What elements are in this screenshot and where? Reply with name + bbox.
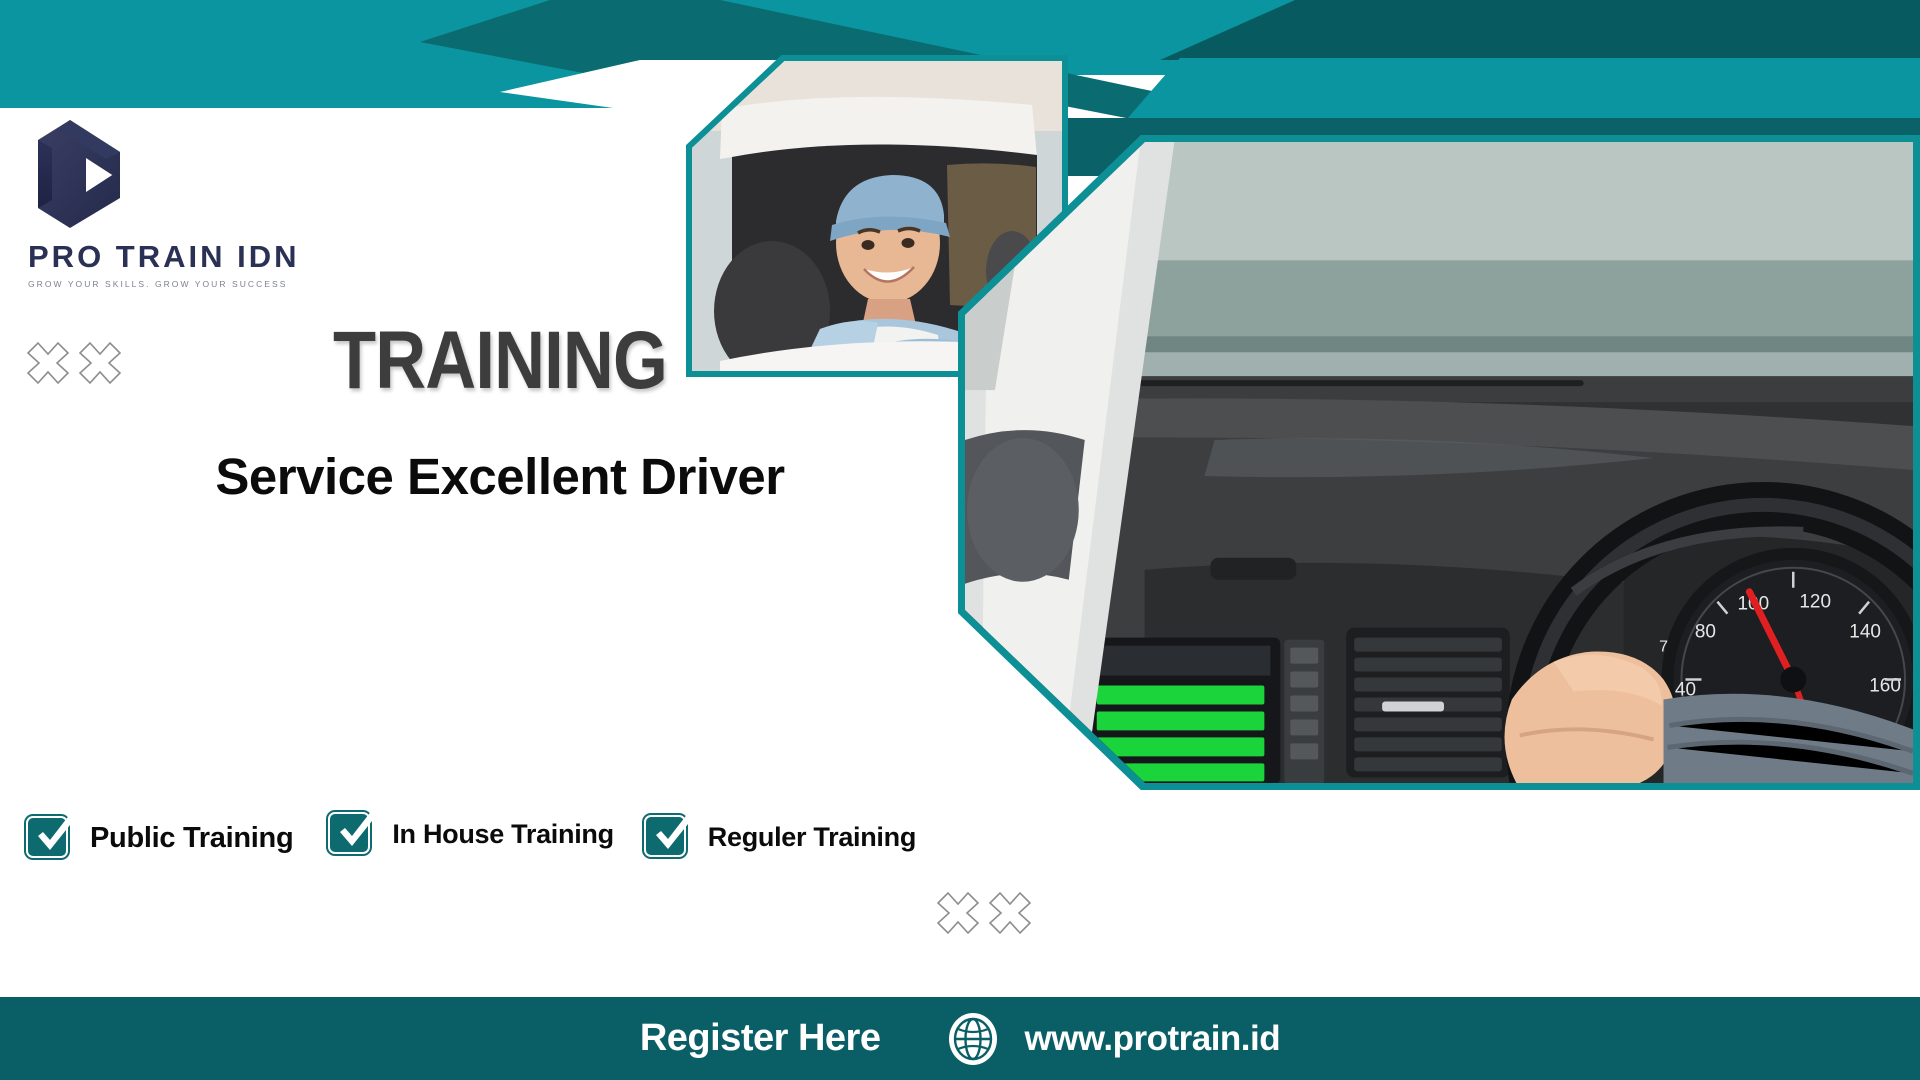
car-interior-illustration: 80 100 120 140 160 180 40 20 0 7 (965, 142, 1913, 783)
banner-canvas: PRO TRAIN IDN GROW YOUR SKILLS. GROW YOU… (0, 0, 1920, 1080)
footer-bar: Register Here www.protrain.id (0, 997, 1920, 1080)
svg-text:120: 120 (1799, 592, 1831, 613)
svg-text:80: 80 (1695, 622, 1716, 643)
feature-label: Public Training (90, 822, 293, 855)
brand-name: PRO TRAIN IDN (28, 239, 358, 275)
photo-car-interior: 80 100 120 140 160 180 40 20 0 7 (965, 142, 1913, 783)
headline-subtitle: Service Excellent Driver (0, 448, 1000, 507)
feature-list: Public Training In House Training Regule… (26, 816, 916, 860)
brand-tagline: GROW YOUR SKILLS. GROW YOUR SUCCESS (28, 279, 358, 289)
photo-car-interior-frame: 80 100 120 140 160 180 40 20 0 7 (958, 135, 1920, 790)
x-cross-outline-icon (935, 890, 981, 936)
website-url[interactable]: www.protrain.id (1024, 1019, 1280, 1059)
protrain-arrow-logo-icon (28, 118, 128, 230)
feature-item-public-training[interactable]: Public Training (26, 816, 293, 860)
decor-x-group-bottom (935, 890, 1033, 936)
svg-text:140: 140 (1849, 622, 1881, 643)
feature-item-in-house-training[interactable]: In House Training (328, 812, 613, 856)
check-mark-icon (28, 808, 86, 862)
check-mark-icon (330, 804, 388, 858)
checkbox-checked-icon[interactable] (328, 812, 372, 856)
svg-text:7: 7 (1659, 639, 1668, 656)
brand-logo[interactable]: PRO TRAIN IDN GROW YOUR SKILLS. GROW YOU… (28, 118, 358, 289)
globe-icon (946, 1012, 1000, 1066)
website-group[interactable]: www.protrain.id (946, 1012, 1280, 1066)
feature-label: Reguler Training (708, 822, 916, 853)
check-mark-icon (646, 807, 704, 861)
feature-label: In House Training (392, 819, 613, 850)
checkbox-checked-icon[interactable] (26, 816, 70, 860)
checkbox-checked-icon[interactable] (644, 815, 688, 859)
register-here-label[interactable]: Register Here (640, 1017, 881, 1060)
feature-item-reguler-training[interactable]: Reguler Training (644, 815, 916, 859)
x-cross-outline-icon (987, 890, 1033, 936)
